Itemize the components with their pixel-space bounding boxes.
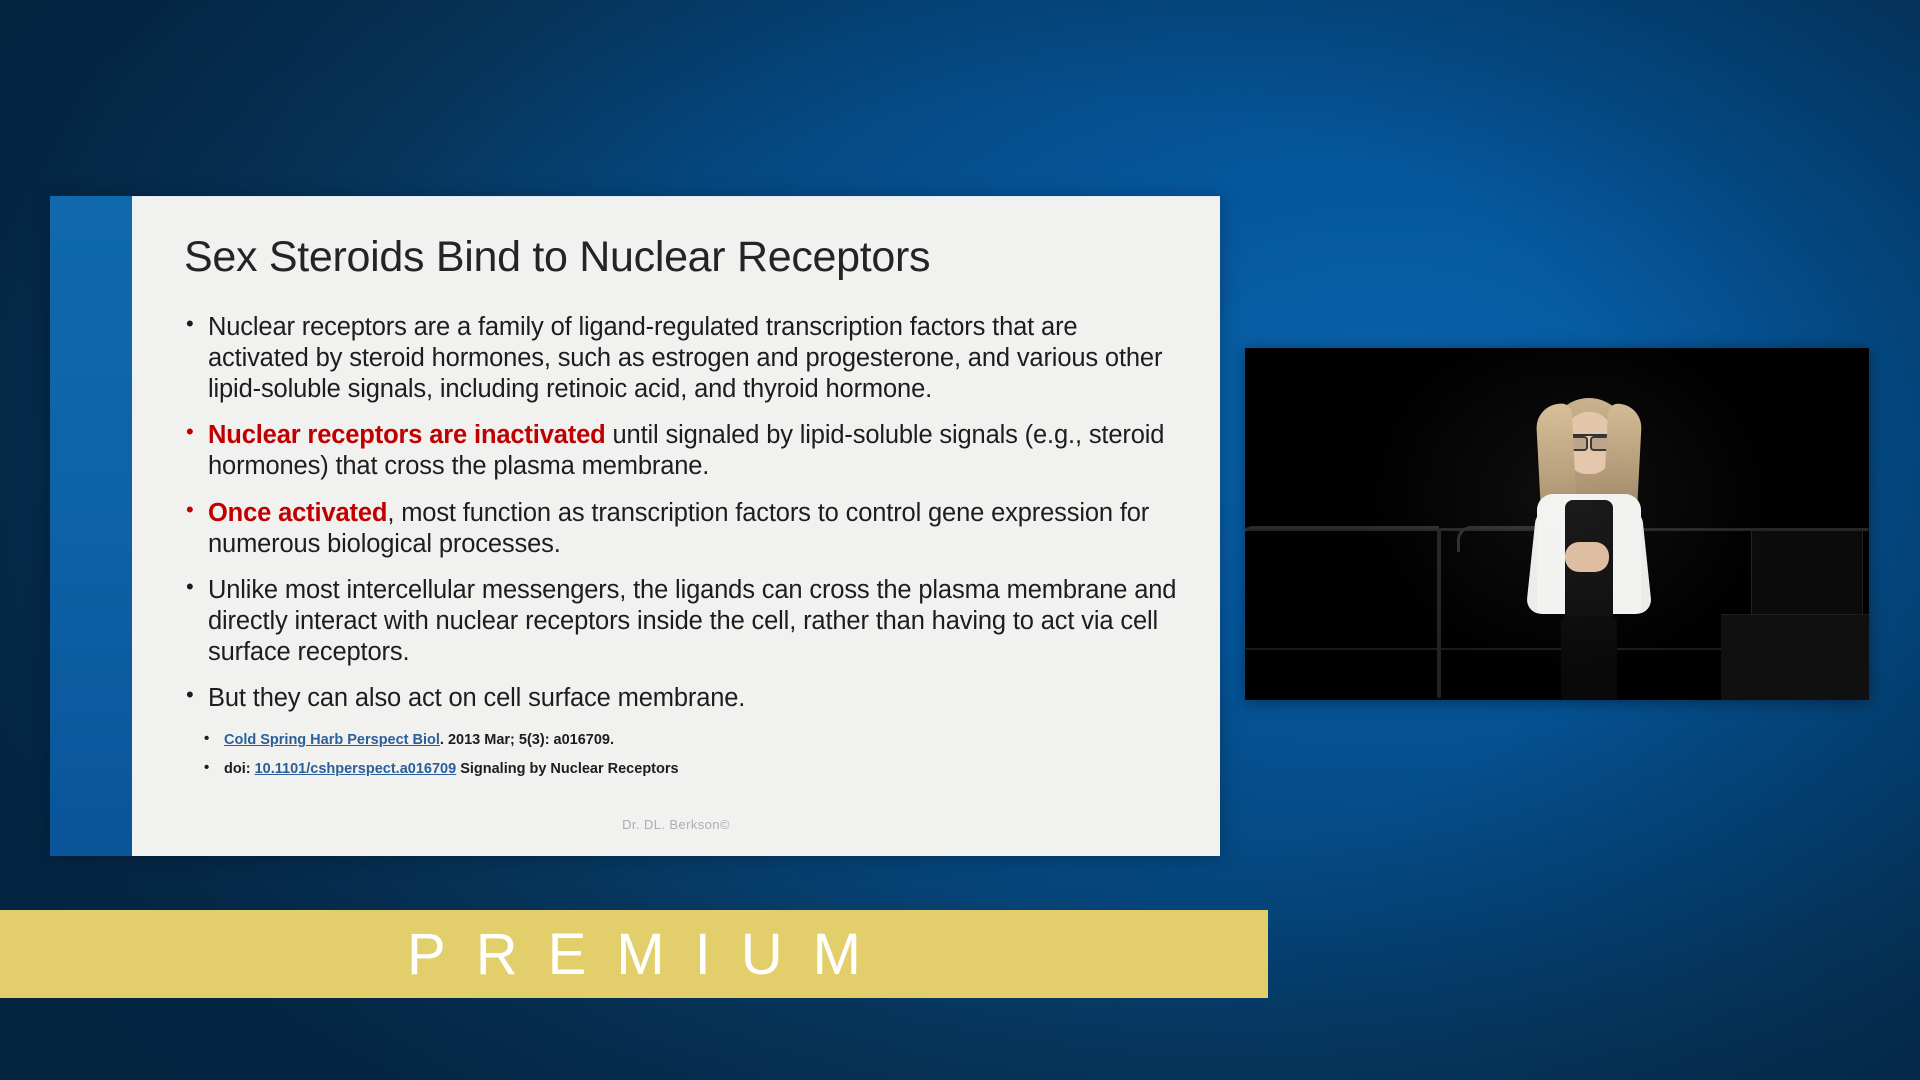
citation-1-suffix: . 2013 Mar; 5(3): a016709.: [440, 732, 614, 748]
slide-accent-bar: [50, 196, 132, 856]
citation-2-suffix: Signaling by Nuclear Receptors: [456, 761, 678, 777]
presentation-viewer: Sex Steroids Bind to Nuclear Receptors N…: [0, 0, 1920, 1080]
slide-title: Sex Steroids Bind to Nuclear Receptors: [184, 233, 1184, 282]
citation-2-doi-link[interactable]: 10.1101/cshperspect.a016709: [255, 761, 457, 777]
presenter-hands: [1565, 542, 1609, 572]
bullet-item-4: Unlike most intercellular messengers, th…: [182, 575, 1184, 668]
bullet-item-3: Once activated, most function as transcr…: [182, 498, 1184, 560]
citation-2-prefix: doi:: [224, 761, 255, 777]
stage-table: [1721, 614, 1869, 700]
premium-label: PREMIUM: [377, 921, 891, 988]
bullet-3-highlight: Once activated: [208, 499, 387, 527]
bullet-item-5: But they can also act on cell surface me…: [182, 683, 1184, 714]
bullet-item-1: Nuclear receptors are a family of ligand…: [182, 312, 1184, 405]
premium-banner: PREMIUM: [0, 910, 1268, 998]
stage-rail-cap-left: [1245, 526, 1439, 552]
bullet-5-text: But they can also act on cell surface me…: [208, 684, 745, 712]
bullet-4-text: Unlike most intercellular messengers, th…: [208, 576, 1176, 666]
presenter-figure: [1519, 390, 1659, 700]
slide-content: Sex Steroids Bind to Nuclear Receptors N…: [132, 196, 1220, 856]
bullet-item-2: Nuclear receptors are inactivated until …: [182, 420, 1184, 482]
stage-rail-post-left: [1437, 528, 1441, 698]
bullet-2-highlight: Nuclear receptors are inactivated: [208, 421, 606, 449]
slide-container: Sex Steroids Bind to Nuclear Receptors N…: [50, 196, 1220, 856]
citation-item-2: doi: 10.1101/cshperspect.a016709 Signali…: [198, 758, 1184, 780]
speaker-video-feed[interactable]: [1245, 348, 1869, 700]
citation-item-1: Cold Spring Harb Perspect Biol. 2013 Mar…: [198, 729, 1184, 751]
slide-bullet-list: Nuclear receptors are a family of ligand…: [182, 312, 1184, 714]
citation-1-link[interactable]: Cold Spring Harb Perspect Biol: [224, 732, 440, 748]
presenter-legs: [1561, 616, 1617, 700]
bullet-1-text: Nuclear receptors are a family of ligand…: [208, 313, 1162, 403]
slide-citation-list: Cold Spring Harb Perspect Biol. 2013 Mar…: [198, 729, 1184, 780]
slide-copyright-footer: Dr. DL. Berkson©: [132, 817, 1220, 832]
